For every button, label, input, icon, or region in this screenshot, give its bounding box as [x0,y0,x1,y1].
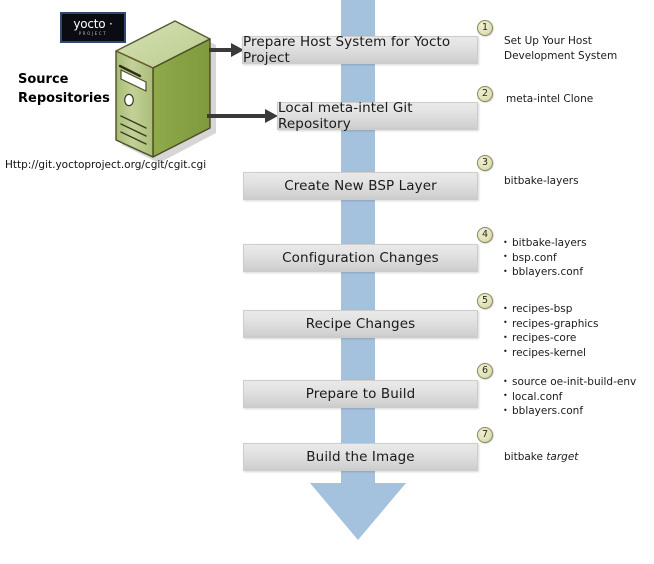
annotation-bullet: bblayers.conf [503,265,587,280]
flow-arrow-head-icon [310,483,406,540]
connector-arrow-to-step-2 [207,109,279,123]
annotation-bullet: recipes-core [503,331,599,346]
step-number-badge-1: 1 [477,20,493,36]
step-number-badge-7: 7 [477,427,493,443]
process-box-label: Configuration Changes [282,250,439,266]
annotation-line: meta-intel Clone [506,92,593,107]
process-box-label: Build the Image [306,449,414,465]
annotation-line: bitbake-layers [504,174,579,189]
annotation-step-1: Set Up Your Host Development System [504,34,617,63]
diagram-canvas: yocto · PROJECT [0,0,654,564]
connector-arrow-to-step-1 [209,43,244,57]
annotation-step-6: source oe-init-build-env local.conf bbla… [503,375,636,419]
annotation-bullet: bsp.conf [503,251,587,266]
process-box-step-7[interactable]: Build the Image [243,443,478,471]
process-box-label: Create New BSP Layer [284,178,437,194]
source-label-line-1: Source [18,70,110,89]
flow-arrow-band [341,0,375,484]
annotation-step-7: bitbake target [504,450,578,465]
source-repository-url: Http://git.yoctoproject.org/cgit/cgit.cg… [5,159,206,171]
step-number-badge-5: 5 [477,293,493,309]
process-box-label: Prepare to Build [306,386,416,402]
annotation-command: bitbake [504,451,546,463]
annotation-step-3: bitbake-layers [504,174,579,189]
annotation-bullet: recipes-kernel [503,346,599,361]
annotation-step-2: meta-intel Clone [506,92,593,107]
process-box-step-5[interactable]: Recipe Changes [243,310,478,338]
step-number-badge-3: 3 [477,155,493,171]
annotation-bullet: bitbake-layers [503,236,587,251]
source-repositories-label: Source Repositories [18,70,110,108]
process-box-step-2[interactable]: Local meta-intel Git Repository [277,102,478,130]
step-number-badge-4: 4 [477,227,493,243]
annotation-step-5: recipes-bsp recipes-graphics recipes-cor… [503,302,599,360]
annotation-bullet: source oe-init-build-env [503,375,636,390]
process-box-label: Prepare Host System for Yocto Project [243,34,477,66]
annotation-step-4: bitbake-layers bsp.conf bblayers.conf [503,236,587,280]
process-box-label: Local meta-intel Git Repository [278,100,477,132]
step-number-badge-6: 6 [477,363,493,379]
source-label-line-2: Repositories [18,89,110,108]
process-box-step-1[interactable]: Prepare Host System for Yocto Project [242,36,478,64]
annotation-bullet: recipes-graphics [503,317,599,332]
process-box-step-3[interactable]: Create New BSP Layer [243,172,478,200]
annotation-bullet: bblayers.conf [503,404,636,419]
annotation-bullet: local.conf [503,390,636,405]
annotation-line: Development System [504,49,617,64]
annotation-line: Set Up Your Host [504,34,617,49]
process-box-step-4[interactable]: Configuration Changes [243,244,478,272]
process-box-label: Recipe Changes [306,316,416,332]
annotation-command-arg: target [546,451,578,463]
annotation-line: bitbake target [504,450,578,465]
server-tower-icon [96,18,216,163]
step-number-badge-2: 2 [477,86,493,102]
annotation-bullet: recipes-bsp [503,302,599,317]
process-box-step-6[interactable]: Prepare to Build [243,380,478,408]
